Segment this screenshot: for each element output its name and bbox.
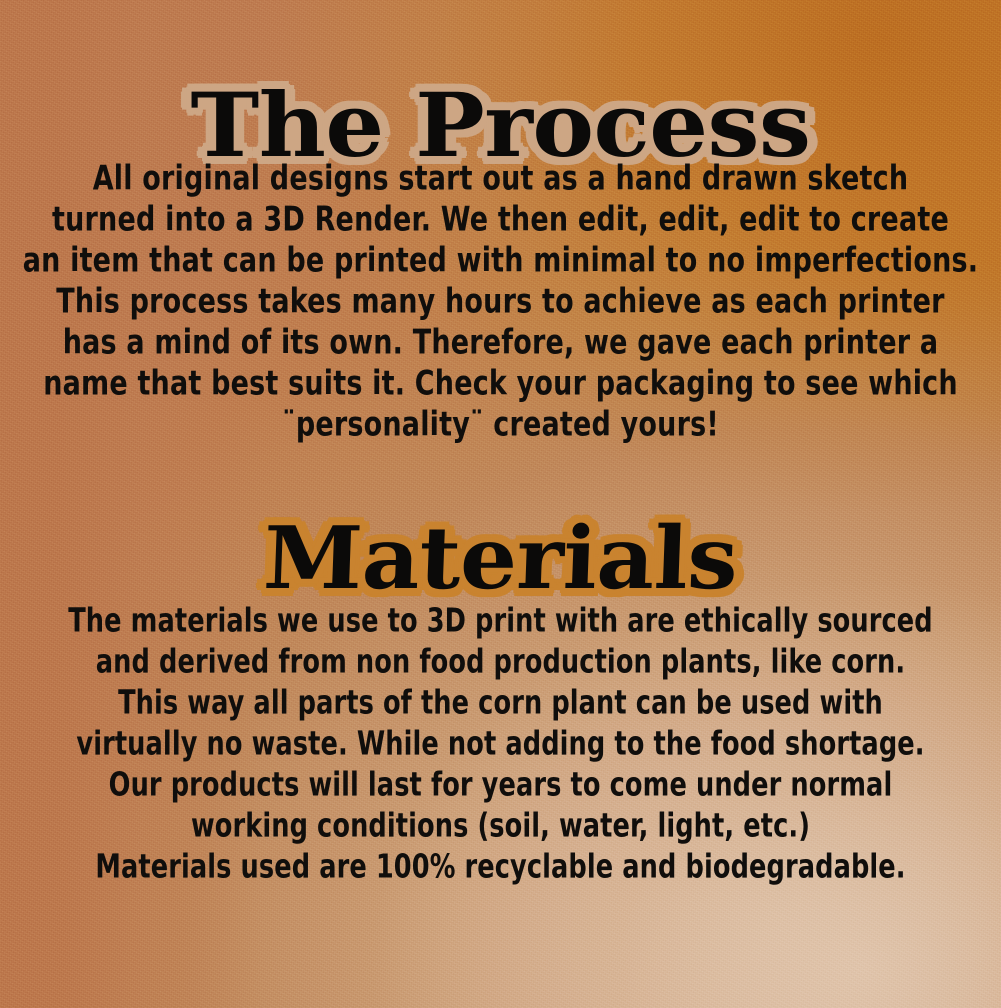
process-line-3: an item that can be printed with minimal… (0, 237, 1001, 284)
materials-line-2: and derived from non food production pla… (0, 638, 1001, 685)
materials-line-7: Materials used are 100% recyclable and b… (0, 843, 1001, 890)
process-line-4: This process takes many hours to achieve… (0, 278, 1001, 325)
materials-line-1: The materials we use to 3D print with ar… (0, 597, 1001, 644)
process-line-7: ¨personality¨ created yours! (0, 401, 1001, 448)
process-line-6: name that best suits it. Check your pack… (0, 360, 1001, 407)
process-body-text: All original designs start out as a hand… (0, 158, 1001, 445)
poster-canvas: The Process All original designs start o… (0, 0, 1001, 1008)
process-line-1: All original designs start out as a hand… (0, 155, 1001, 202)
materials-heading: Materials (0, 516, 1001, 602)
materials-line-6: working conditions (soil, water, light, … (0, 802, 1001, 849)
materials-line-5: Our products will last for years to come… (0, 761, 1001, 808)
process-line-2: turned into a 3D Render. We then edit, e… (0, 196, 1001, 243)
process-line-5: has a mind of its own. Therefore, we gav… (0, 319, 1001, 366)
materials-line-4: virtually no waste. While not adding to … (0, 720, 1001, 767)
materials-line-3: This way all parts of the corn plant can… (0, 679, 1001, 726)
materials-body-text: The materials we use to 3D print with ar… (0, 600, 1001, 887)
